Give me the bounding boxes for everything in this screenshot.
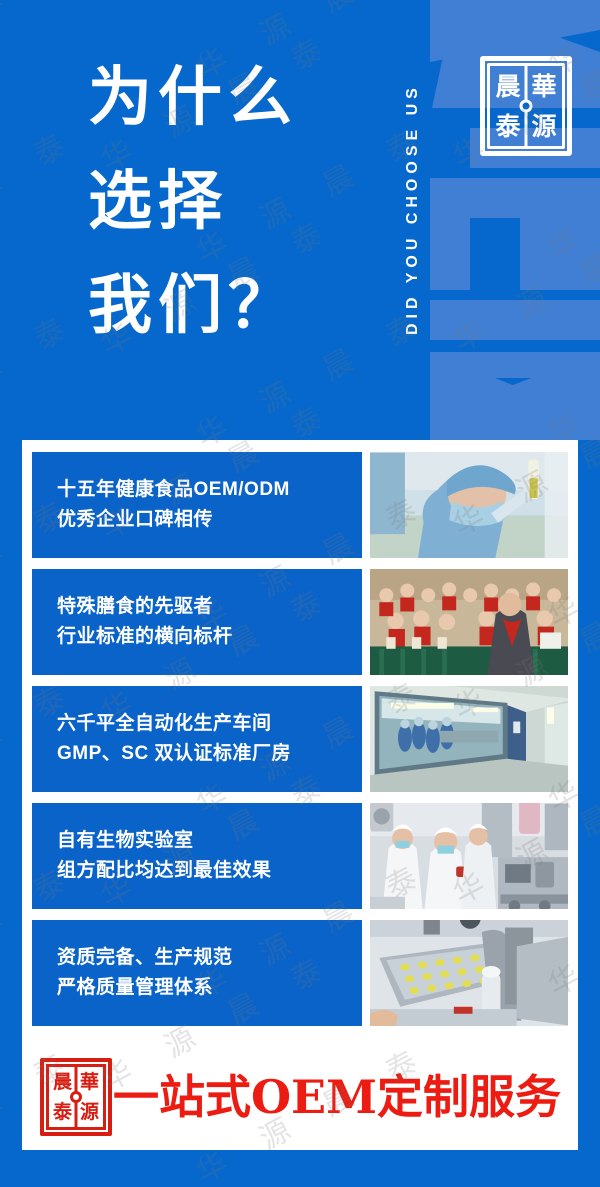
photo-cleanroom-corridor (370, 686, 568, 792)
feature-card: 十五年健康食品OEM/ODM 优秀企业口碑相传 (32, 452, 568, 558)
footer-seal-center-dot (73, 1094, 79, 1100)
feature-card-line: 组方配比均达到最佳效果 (57, 856, 362, 886)
feature-card-line: 十五年健康食品OEM/ODM (57, 475, 362, 505)
feature-card-line: 资质完备、生产规范 (57, 943, 362, 973)
photo-worker-inspecting-vial (370, 452, 568, 558)
feature-card-line: GMP、SC 双认证标准厂房 (57, 739, 362, 769)
poster-root: 为什么 选择 我们？ DID YOU CHOOSE US 晨 華 泰 源 十五年… (0, 0, 600, 1187)
feature-card-text: 十五年健康食品OEM/ODM 优秀企业口碑相传 (32, 452, 362, 558)
seal-char-1: 晨 (490, 66, 526, 106)
feature-card-photo (370, 920, 568, 1026)
seal-char-4: 源 (526, 106, 562, 146)
footer-seal-char-1: 晨 (49, 1067, 76, 1097)
page-title-line-1: 为什么 (88, 46, 388, 150)
feature-card: 六千平全自动化生产车间 GMP、SC 双认证标准厂房 (32, 686, 568, 792)
footer-seal-char-2: 華 (76, 1067, 103, 1097)
feature-card-text: 特殊膳食的先驱者 行业标准的横向标杆 (32, 569, 362, 675)
feature-card-line: 六千平全自动化生产车间 (57, 709, 362, 739)
footer-brand-seal-icon: 晨 華 泰 源 (40, 1058, 112, 1136)
feature-card-photo (370, 803, 568, 909)
photo-technicians-production-line (370, 803, 568, 909)
brand-seal-icon: 晨 華 泰 源 (480, 56, 572, 156)
feature-card-line: 自有生物实验室 (57, 826, 362, 856)
feature-card-text: 资质完备、生产规范 严格质量管理体系 (32, 920, 362, 1026)
feature-card-text: 自有生物实验室 组方配比均达到最佳效果 (32, 803, 362, 909)
page-title-line-2: 选择 (88, 150, 388, 254)
seal-char-2: 華 (526, 66, 562, 106)
feature-card: 资质完备、生产规范 严格质量管理体系 (32, 920, 568, 1026)
feature-card-line: 特殊膳食的先驱者 (57, 592, 362, 622)
page-title-line-3: 我们？ (88, 254, 388, 358)
photo-conference-audience (370, 569, 568, 675)
feature-card-photo (370, 569, 568, 675)
feature-card: 自有生物实验室 组方配比均达到最佳效果 (32, 803, 568, 909)
feature-card: 特殊膳食的先驱者 行业标准的横向标杆 (32, 569, 568, 675)
seal-char-3: 泰 (490, 106, 526, 146)
seal-center-dot (523, 103, 530, 110)
feature-card-text: 六千平全自动化生产车间 GMP、SC 双认证标准厂房 (32, 686, 362, 792)
feature-card-line: 严格质量管理体系 (57, 973, 362, 1003)
feature-card-photo (370, 686, 568, 792)
header: 为什么 选择 我们？ DID YOU CHOOSE US 晨 華 泰 源 (0, 0, 600, 440)
footer-seal-char-4: 源 (76, 1097, 103, 1127)
vertical-tagline: DID YOU CHOOSE US (404, 20, 430, 398)
feature-card-photo (370, 452, 568, 558)
footer-seal-char-3: 泰 (49, 1097, 76, 1127)
content-panel: 十五年健康食品OEM/ODM 优秀企业口碑相传 (22, 440, 578, 1150)
page-title: 为什么 选择 我们？ (88, 46, 388, 358)
footer-slogan: 一站式OEM定制服务 (112, 1074, 568, 1120)
footer-band: 晨 華 泰 源 一站式OEM定制服务 (32, 1054, 568, 1140)
photo-blister-packing-machine (370, 920, 568, 1026)
feature-card-line: 行业标准的横向标杆 (57, 622, 362, 652)
feature-card-line: 优秀企业口碑相传 (57, 505, 362, 535)
feature-card-list: 十五年健康食品OEM/ODM 优秀企业口碑相传 (32, 452, 568, 1037)
